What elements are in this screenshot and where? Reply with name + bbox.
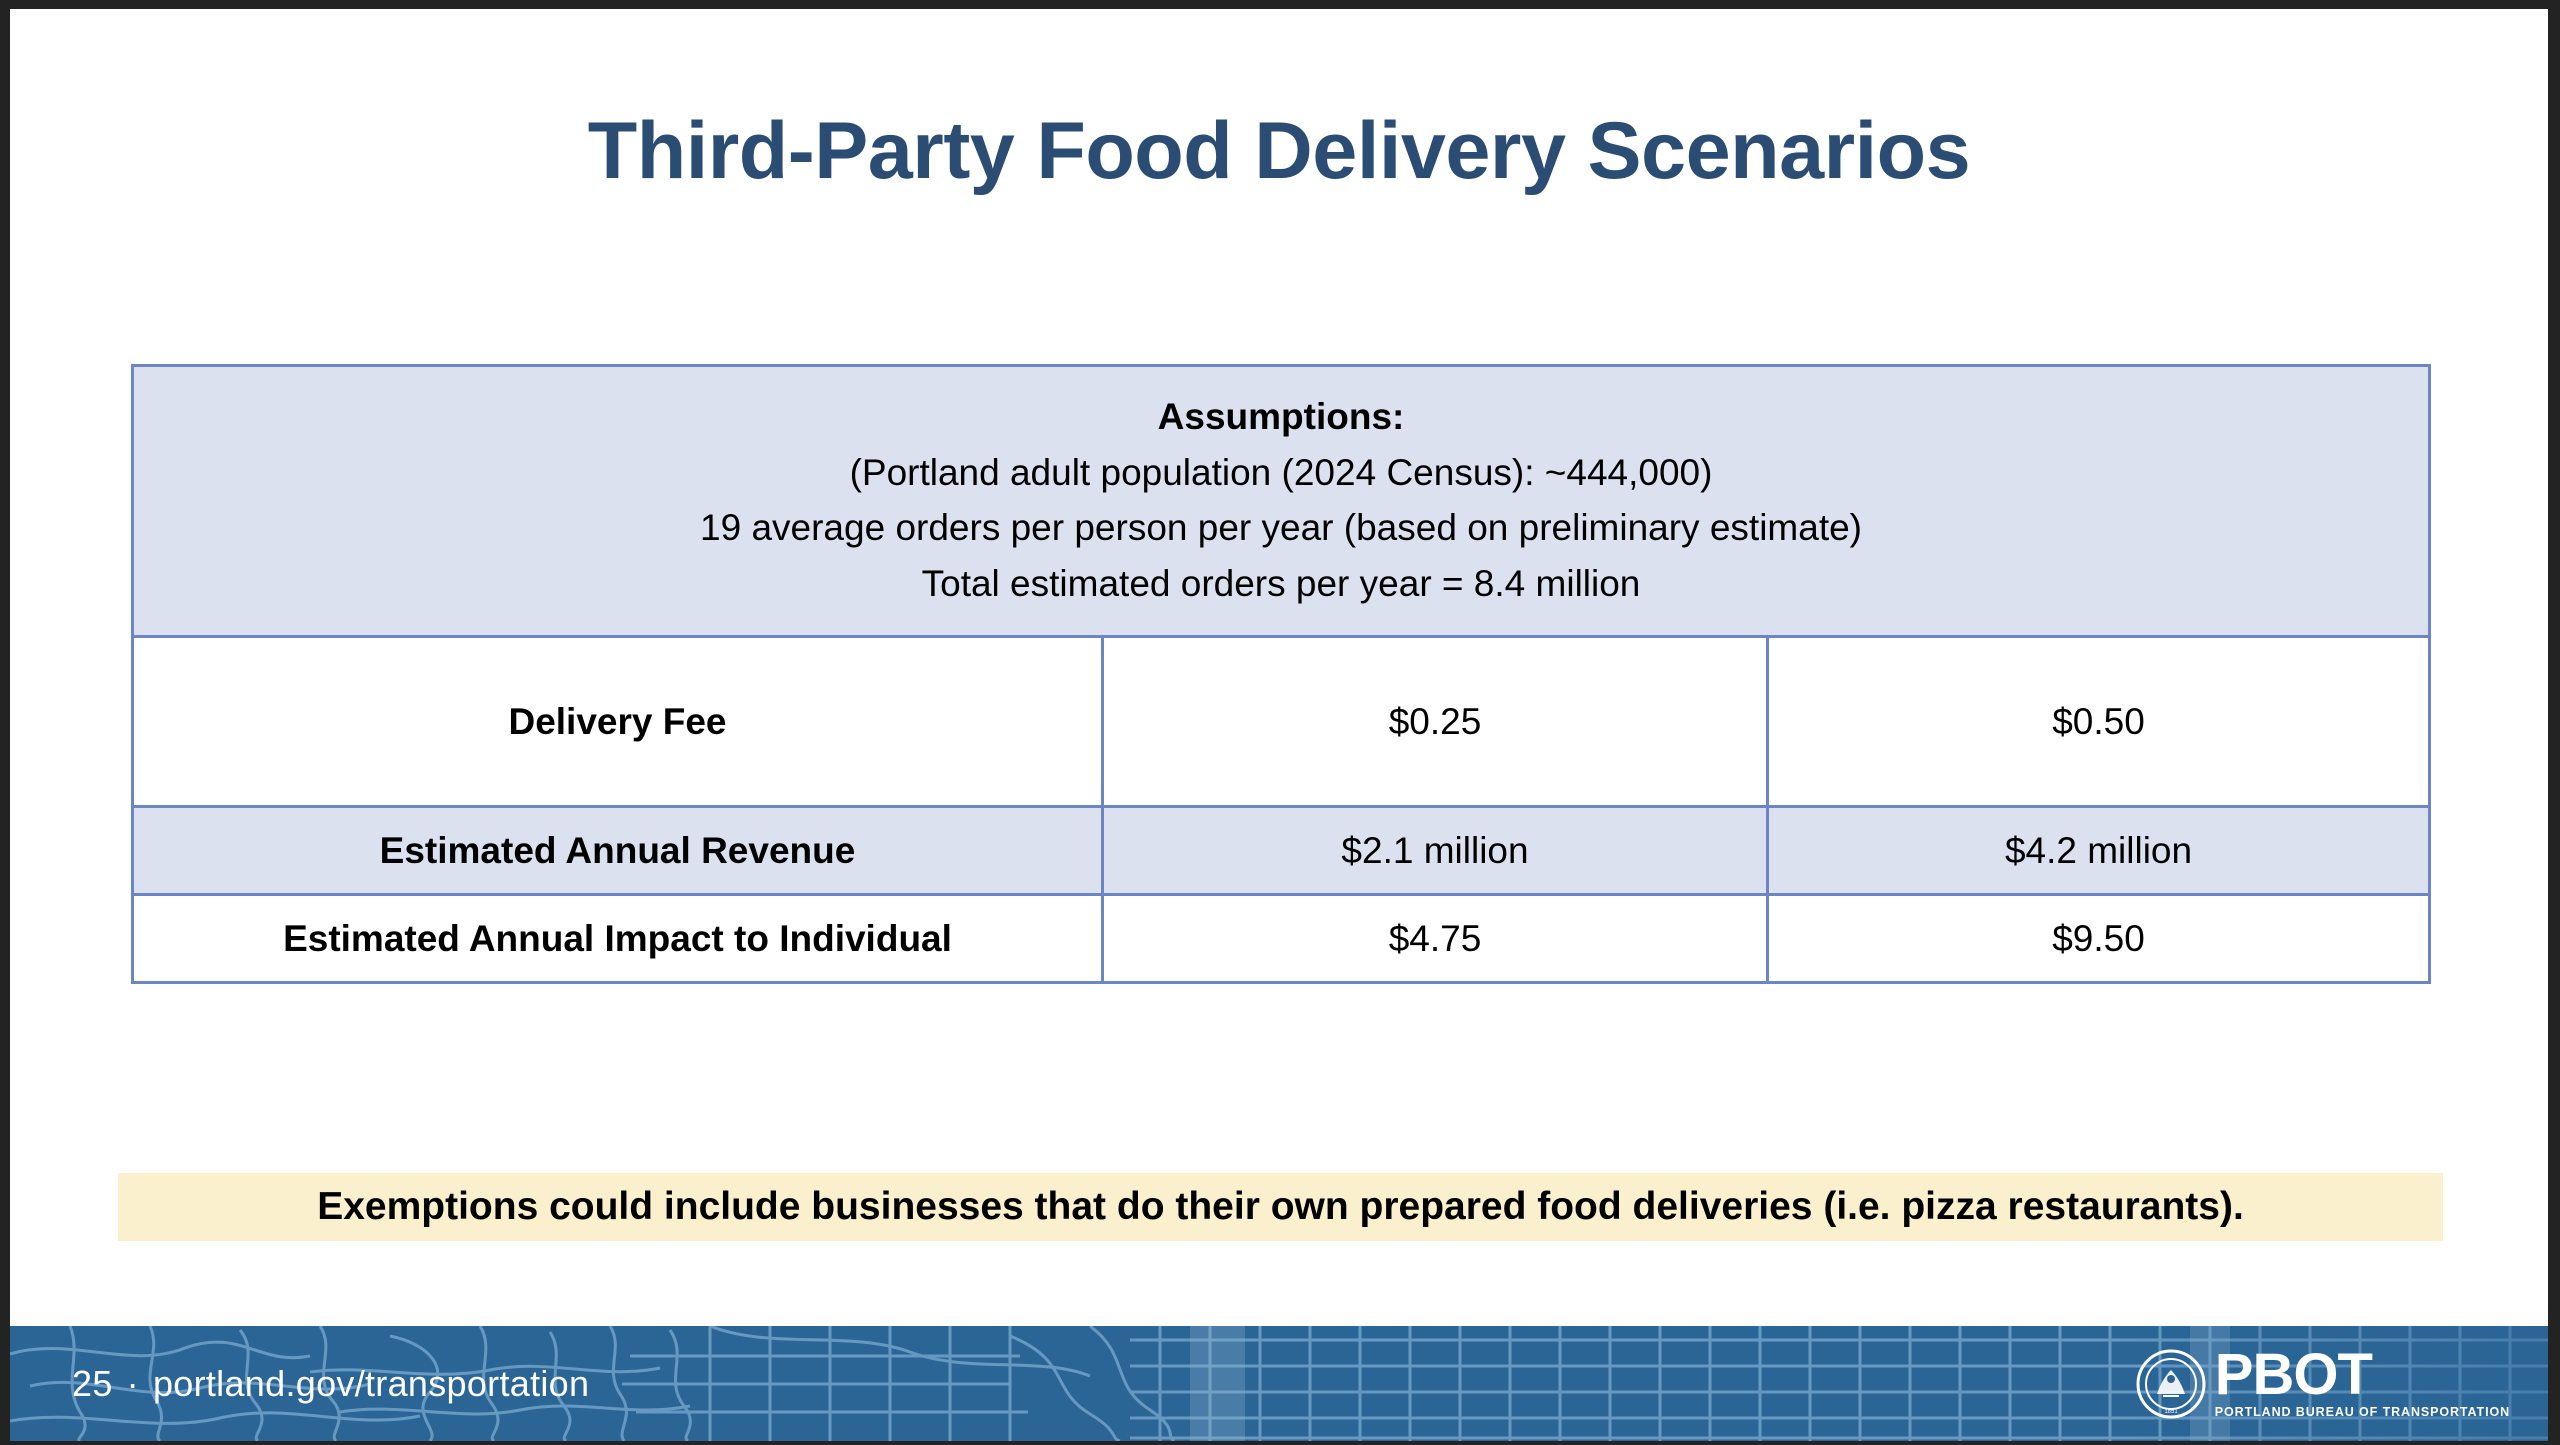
row-label-individual-impact: Estimated Annual Impact to Individual <box>133 895 1103 983</box>
pbot-name: PBOT <box>2215 1348 2510 1401</box>
row-value-annual-revenue-b: $4.2 million <box>1768 807 2430 895</box>
row-value-individual-impact-a: $4.75 <box>1103 895 1768 983</box>
row-label-annual-revenue: Estimated Annual Revenue <box>133 807 1103 895</box>
scenario-table: Assumptions: (Portland adult population … <box>131 364 2431 984</box>
row-value-delivery-fee-b: $0.50 <box>1768 637 2430 807</box>
table-row-assumptions: Assumptions: (Portland adult population … <box>133 366 2430 637</box>
slide-footer: 25·portland.gov/transportation 1851 PBOT… <box>10 1326 2548 1441</box>
slide-number: 25 <box>72 1363 113 1404</box>
city-seal-icon: 1851 <box>2135 1348 2207 1420</box>
pbot-tagline: PORTLAND BUREAU OF TRANSPORTATION <box>2215 1405 2510 1419</box>
footer-separator: · <box>113 1363 153 1404</box>
assumptions-line-population: (Portland adult population (2024 Census)… <box>144 445 2418 501</box>
assumptions-line-orders: 19 average orders per person per year (b… <box>144 500 2418 556</box>
footer-attribution: 25·portland.gov/transportation <box>72 1363 589 1405</box>
row-value-delivery-fee-a: $0.25 <box>1103 637 1768 807</box>
exemption-text: Exemptions could include businesses that… <box>317 1185 2244 1229</box>
exemption-callout: Exemptions could include businesses that… <box>118 1173 2443 1241</box>
footer-website[interactable]: portland.gov/transportation <box>153 1363 589 1404</box>
row-label-delivery-fee: Delivery Fee <box>133 637 1103 807</box>
table-row: Delivery Fee $0.25 $0.50 <box>133 637 2430 807</box>
svg-text:1851: 1851 <box>2164 1409 2178 1415</box>
slide-frame: Third-Party Food Delivery Scenarios Assu… <box>0 0 2560 1445</box>
row-value-annual-revenue-a: $2.1 million <box>1103 807 1768 895</box>
assumptions-heading: Assumptions: <box>144 389 2418 445</box>
pbot-wordmark: PBOT PORTLAND BUREAU OF TRANSPORTATION <box>2215 1348 2510 1418</box>
row-value-individual-impact-b: $9.50 <box>1768 895 2430 983</box>
assumptions-line-total: Total estimated orders per year = 8.4 mi… <box>144 556 2418 612</box>
pbot-logo: 1851 PBOT PORTLAND BUREAU OF TRANSPORTAT… <box>2135 1347 2510 1421</box>
slide-canvas: Third-Party Food Delivery Scenarios Assu… <box>10 9 2548 1441</box>
page-title: Third-Party Food Delivery Scenarios <box>10 111 2548 192</box>
table-row: Estimated Annual Impact to Individual $4… <box>133 895 2430 983</box>
table-row: Estimated Annual Revenue $2.1 million $4… <box>133 807 2430 895</box>
assumptions-cell: Assumptions: (Portland adult population … <box>133 366 2430 637</box>
